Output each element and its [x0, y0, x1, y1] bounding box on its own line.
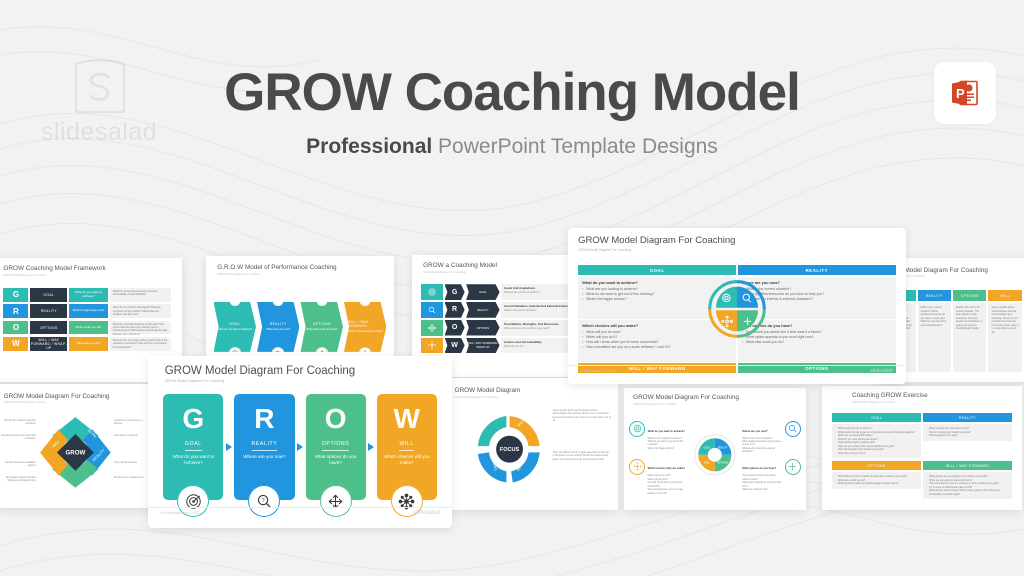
row-text: How has the problem developed? What are … — [110, 304, 171, 318]
row-name: REALITY — [30, 304, 67, 318]
table-row[interactable]: W WILL / WAY FORWARD / WRAP-UP Actions A… — [421, 338, 588, 354]
diamond-cycle-diagram: GROW GOAL REALITY OPTIONS WILL — [37, 414, 114, 491]
table-row[interactable]: G GOAL What do you want to achieve? Defi… — [3, 288, 170, 302]
powerpoint-icon: P — [948, 76, 982, 110]
table-row[interactable]: R REALITY Current Situation, Internal An… — [421, 302, 588, 318]
subtitle-rest: PowerPoint Template Designs — [432, 135, 718, 158]
column-will[interactable]: WILL Agree specific action and timeframe… — [988, 290, 1021, 372]
exercise-quad-will[interactable]: WILL / WAY FORWARD What options are you … — [923, 461, 1012, 500]
block-item: What are the internal & external obstacl… — [742, 448, 782, 455]
focus-center-label: FOCUS — [500, 447, 520, 453]
chevron-desc: Where are you now? — [266, 328, 290, 331]
block-title: Which choices will you make? — [648, 467, 685, 470]
diamond-note-right-4: Practice from impacting you — [114, 476, 148, 480]
chevron-label: GOAL — [229, 322, 240, 326]
row-name: WILL / WAY FORWARD / WRAP-UP — [30, 337, 67, 351]
column-body: What is the current situation? What qual… — [918, 303, 951, 372]
row-question: What's happening now? — [69, 304, 107, 318]
triangle-right-icon — [223, 394, 234, 501]
grow-cards-row: G GOAL What do you want to Achieve? R RE… — [163, 394, 437, 501]
table-row[interactable]: W WILL / WAY FORWARD / WRAP-UP What will… — [3, 337, 170, 351]
row-name: OPTIONS — [30, 321, 67, 335]
powerpoint-badge[interactable]: P — [934, 62, 996, 124]
footer-left: 4 | SlideSalad.com | 2020 — [160, 511, 199, 515]
diamond-note-left-4: Encourage solution focused thinking and … — [0, 476, 35, 483]
chevron-desc: What do you want to achieve? — [217, 328, 252, 331]
slide-coaching-grow-exercise[interactable]: Coaching GROW Exercise GROW Model Diagra… — [822, 386, 1022, 510]
column-body: Agree specific action and timeframe and … — [988, 303, 1021, 372]
slide-subtitle: GROW Model Diagram For Coaching — [3, 274, 105, 277]
grow-card-options[interactable]: O OPTIONS What options do you have? — [306, 394, 366, 501]
row-letter: G — [445, 284, 465, 300]
quad-header-reality: REALITY — [738, 265, 896, 275]
row-name: GOAL — [466, 284, 499, 300]
chevron-row: G GOAL What do you want to achieve? R RE… — [214, 292, 387, 362]
chevron-label: OPTIONS — [313, 322, 331, 326]
slide-title: GROW Model Diagram For Coaching — [578, 235, 735, 246]
card-label: OPTIONS — [322, 441, 350, 451]
row-name: WILL / WAY FORWARD / WRAP-UP — [466, 338, 499, 354]
row-letter: W — [445, 338, 465, 354]
slide-grow-focus-cycle[interactable]: GROW Model Diagram GROW Model Diagram Fo… — [446, 378, 618, 510]
four-arrows-icon — [421, 320, 443, 336]
circular-quadrant-diagram — [706, 278, 768, 340]
row-letter: R — [3, 304, 28, 318]
quad-header-goal: GOAL — [578, 265, 736, 275]
svg-text:P: P — [956, 86, 965, 101]
table-row[interactable]: O OPTIONS Possibilities, Strengths, And … — [421, 320, 588, 336]
card-label: REALITY — [252, 441, 278, 451]
slide-title: GROW a Coaching Model — [423, 262, 497, 269]
column-body: Explore the action for moving forward. T… — [953, 303, 986, 372]
slide-title: GROW Model Diagram For Coaching — [4, 393, 110, 400]
column-header: OPTIONS — [953, 290, 986, 301]
quad-item: What would you like to get out of spendi… — [835, 431, 918, 438]
diamond-center-label: GROW — [66, 449, 86, 456]
footer-brand: slidesalad — [870, 368, 892, 374]
card-desc: What do you want to Achieve? — [167, 454, 219, 466]
table-row[interactable]: O OPTIONS What could you do? What are po… — [3, 321, 170, 335]
focus-note-1: Agree specific action and timeframe and … — [553, 410, 611, 424]
circle-block-goal: What do you want to achieve? What are yo… — [648, 419, 688, 452]
chevron-will[interactable]: W WILL / WAY FORWARD Which choices will … — [344, 302, 386, 352]
triangle-right-icon — [366, 394, 377, 501]
row-question: What will you do? — [69, 337, 107, 351]
featured-slide-grow-quad-diagram[interactable]: GROW Model Diagram For Coaching GROW Mod… — [568, 228, 906, 384]
footer-left: 3 | SlideSalad.com | 2020 — [582, 369, 616, 373]
slide-subtitle: GROW Model Diagram For Coaching — [4, 401, 110, 404]
card-label: WILL — [399, 441, 414, 451]
coaching-rows: G GOAL Goals And AspirationsWhat would y… — [421, 284, 588, 367]
chevron-label: WILL / WAY FORWARD — [347, 320, 383, 328]
column-reality[interactable]: REALITY What is the current situation? W… — [918, 290, 951, 372]
chevron-letter: W — [359, 294, 372, 307]
slide-title: G.R.O.W Model of Performance Coaching — [217, 264, 336, 271]
row-text: Definition of overall goal Goal of sessi… — [110, 288, 171, 302]
chevron-letter: O — [315, 294, 328, 307]
quad-header: WILL / WAY FORWARD — [923, 461, 1012, 470]
svg-text:?: ? — [261, 498, 264, 504]
slide-subtitle: GROW Model Diagram For Coaching — [578, 248, 735, 252]
circle-block-will: Which choices will you make? What will y… — [648, 456, 688, 496]
card-letter: W — [394, 405, 420, 433]
slide-footer: 3 | SlideSalad.com | 2020 slidesalad — [568, 365, 906, 379]
quad-item: How committed are you on a scale between… — [582, 345, 732, 350]
block-title: Where are you now? — [742, 430, 767, 433]
exercise-quad-goal[interactable]: GOAL What would you like to work on? Wha… — [832, 413, 921, 459]
chevron-options[interactable]: O OPTIONS What options do you have? — [300, 302, 342, 352]
slide-subtitle: GROW Model Diagram For Coaching — [633, 403, 739, 406]
row-letter: G — [3, 288, 28, 302]
card-desc: Where are you now? — [239, 454, 291, 460]
chevron-letter: G — [228, 294, 241, 307]
slide-grow-circle-quadrants[interactable]: GROW Model Diagram For Coaching GROW Mod… — [624, 388, 806, 510]
row-text: What are potential obstacles on the way?… — [110, 321, 171, 335]
row-letter: O — [3, 321, 28, 335]
magnifier-icon — [421, 302, 443, 318]
slide-grow-diamond-cycle[interactable]: GROW Model Diagram For Coaching GROW Mod… — [0, 384, 154, 508]
slide-subtitle: GROW Model Diagram For Coaching — [165, 379, 355, 383]
grow-card-reality[interactable]: R REALITY Where are you now? ? — [234, 394, 294, 501]
magnifier-icon — [785, 421, 801, 437]
block-item: How committed are you on a scale between… — [648, 489, 688, 496]
quadrant-label: GOAL — [704, 447, 711, 450]
quad-item: What will you need to keep? Who is else … — [926, 489, 1009, 496]
exercise-quad-reality[interactable]: REALITY What is where from your latest s… — [923, 413, 1012, 459]
row-question: What could you do? — [69, 321, 107, 335]
card-label: GOAL — [185, 441, 202, 451]
row-letter: W — [3, 337, 28, 351]
column-options[interactable]: OPTIONS Explore the action for moving fo… — [953, 290, 986, 372]
card-letter: G — [182, 405, 204, 433]
circle-block-options: What options do you have? How would you … — [742, 456, 782, 492]
row-question: What do you want to achieve? — [69, 288, 107, 302]
slide-subtitle: GROW Model Diagram For Coaching — [423, 271, 497, 274]
quad-header: REALITY — [923, 413, 1012, 422]
card-desc: What options do you have? — [310, 454, 362, 466]
chevron-goal[interactable]: G GOAL What do you want to achieve? — [214, 302, 256, 352]
exercise-grid: GOAL What would you like to work on? Wha… — [832, 413, 1012, 500]
grow-card-will[interactable]: W WILL Which choices will you make? — [377, 394, 437, 501]
page-title: GROW Coaching Model — [0, 62, 1024, 123]
table-row[interactable]: R REALITY What's happening now? How has … — [3, 304, 170, 318]
featured-slide-grow-cards[interactable]: GROW Model Diagram For Coaching GROW Mod… — [148, 356, 452, 528]
slide-subtitle: GROW Model Diagram For Coaching — [217, 273, 336, 276]
block-item: What's the bigger picture? — [648, 448, 688, 451]
quad-item: What are the benefits and disadvantages … — [835, 482, 918, 485]
circle-quadrant-diagram: GOAL REALITY WILL OPTIONS — [693, 417, 737, 493]
network-icon — [629, 459, 645, 475]
row-name: REALITY — [466, 302, 499, 318]
quadrant-label: REALITY — [718, 447, 728, 450]
chevron-letter: R — [272, 294, 285, 307]
target-icon — [629, 421, 645, 437]
triangle-right-icon — [295, 394, 306, 501]
diamond-note-left-3: Identify and assess available options — [0, 461, 35, 468]
block-item: What do you want to get out of this meet… — [648, 441, 688, 448]
table-row[interactable]: G GOAL Goals And AspirationsWhat would y… — [421, 284, 588, 300]
row-name: GOAL — [30, 288, 67, 302]
block-title: What options do you have? — [742, 467, 776, 470]
focus-cycle-diagram: FOCUS WILL / WAY FORWARD REALITY OPTIONS — [470, 407, 549, 491]
network-icon — [421, 338, 443, 354]
quad-header: GOAL — [832, 413, 921, 422]
slide-title: GROW Coaching Model Framework — [3, 265, 105, 272]
chevron-reality[interactable]: R REALITY Where are you now? — [257, 302, 299, 352]
footer-brand: slidesalad — [413, 510, 440, 516]
framework-rows: G GOAL What do you want to achieve? Defi… — [3, 288, 170, 370]
circle-block-reality: Where are you now? What is the current s… — [742, 419, 782, 455]
card-desc: Which choices will you make? — [381, 454, 433, 466]
diamond-note-left-1: Identify the coaches' potential and fear… — [0, 419, 35, 426]
quad-item: What is getting in the way? — [926, 434, 1009, 437]
row-text: What are the next steps and/or goals? Ho… — [110, 337, 171, 351]
chevron-label: REALITY — [270, 322, 287, 326]
chevron-desc: Which choices will you make? — [348, 330, 382, 333]
column-header: WILL — [988, 290, 1021, 301]
quadrant-label: OPTIONS — [717, 462, 728, 465]
slide-subtitle: GROW Model Diagram For Coaching — [455, 396, 521, 399]
block-item: What qualities/resources do you have to … — [742, 441, 782, 448]
poster-stage: slidesalad GROW Coaching Model Professio… — [0, 0, 1024, 576]
page-subtitle: Professional PowerPoint Template Designs — [0, 135, 1024, 159]
diamond-note-right-3: Keep record sessions — [114, 461, 148, 465]
slide-subtitle: GROW Model Diagram For Coaching — [852, 401, 928, 404]
slide-footer: 4 | SlideSalad.com | 2020 slidesalad — [148, 507, 452, 522]
arc-label: WILL / WAY FORWARD — [517, 407, 544, 428]
quad-item: What else could you do? — [742, 340, 892, 345]
block-item: What else could you do? — [742, 489, 782, 492]
diamond-note-right-2: Determine in coaching — [114, 434, 148, 438]
slide-title: GROW Model Diagram For Coaching — [633, 394, 739, 401]
grow-card-goal[interactable]: G GOAL What do you want to Achieve? — [163, 394, 223, 501]
diamond-note-left-2: Developed action plan and build motivati… — [0, 434, 35, 441]
row-letter: O — [445, 320, 465, 336]
target-icon — [421, 284, 443, 300]
block-title: What do you want to achieve? — [648, 430, 685, 433]
card-letter: O — [325, 405, 347, 433]
exercise-quad-options[interactable]: OPTIONS What different kinds of options … — [832, 461, 921, 500]
quad-item: What will it cost you then? — [835, 452, 918, 455]
quadrant-label: WILL — [704, 462, 710, 465]
quad-header: OPTIONS — [832, 461, 921, 470]
row-name: OPTIONS — [466, 320, 499, 336]
slide-title: GROW Model Diagram — [455, 387, 521, 394]
slide-title: GROW Model Diagram For Coaching — [165, 365, 355, 377]
card-letter: R — [254, 405, 274, 433]
subtitle-strong: Professional — [306, 135, 432, 158]
row-letter: R — [445, 302, 465, 318]
slide-title: Coaching GROW Exercise — [852, 392, 928, 399]
column-header: REALITY — [918, 290, 951, 301]
four-arrows-icon — [785, 459, 801, 475]
diamond-note-right-1: Coaches is on long term to achieve — [114, 419, 148, 426]
focus-note-2: There are different kinds of goals depen… — [553, 452, 611, 462]
chevron-desc: What options do you have? — [306, 328, 337, 331]
